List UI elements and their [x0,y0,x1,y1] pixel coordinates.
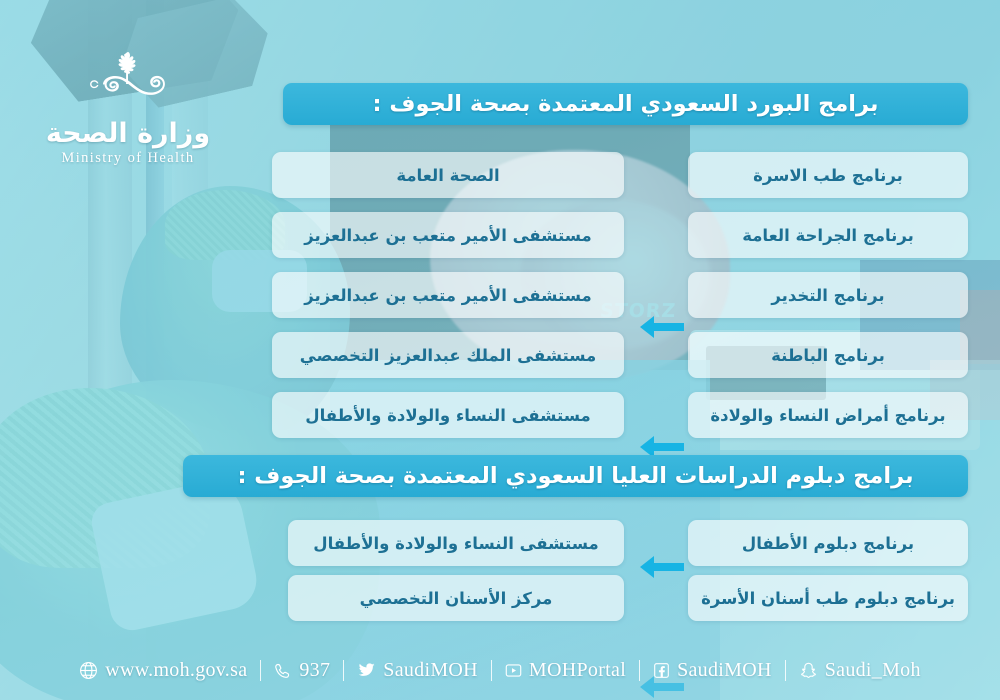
site-card[interactable]: مستشفى النساء والولادة والأطفال [288,520,624,566]
program-card[interactable]: برنامج أمراض النساء والولادة [688,392,968,438]
table-row: برنامج التخدير مستشفى الأمير متعب بن عبد… [0,272,1000,318]
site-card[interactable]: مستشفى الملك عبدالعزيز التخصصي [272,332,624,378]
table-row: برنامج دبلوم طب أسنان الأسرة مركز الأسنا… [0,575,1000,621]
program-card[interactable]: برنامج التخدير [688,272,968,318]
website-label: www.moh.gov.sa [105,659,247,682]
section-title-board-programs: برامج البورد السعودي المعتمدة بصحة الجوف… [283,83,968,125]
program-card[interactable]: برنامج دبلوم الأطفال [688,520,968,566]
twitter-icon [357,661,376,680]
footer-item-twitter[interactable]: SaudiMOH [344,659,491,682]
program-label: برنامج أمراض النساء والولادة [710,406,945,425]
footer-item-website[interactable]: www.moh.gov.sa [66,659,260,682]
site-card[interactable]: مستشفى الأمير متعب بن عبدالعزيز [272,212,624,258]
program-label: برنامج الباطنة [771,346,885,365]
globe-icon [79,661,98,680]
twitter-label: SaudiMOH [383,659,478,682]
footer-item-phone[interactable]: 937 [261,659,343,682]
program-card[interactable]: برنامج طب الاسرة [688,152,968,198]
table-row: برنامج الباطنة مستشفى الملك عبدالعزيز ال… [0,332,1000,378]
program-card[interactable]: برنامج دبلوم طب أسنان الأسرة [688,575,968,621]
footer-item-youtube[interactable]: MOHPortal [492,659,639,682]
site-card[interactable]: مستشفى الأمير متعب بن عبدالعزيز [272,272,624,318]
footer-contact-bar: www.moh.gov.sa 937 SaudiMOH [0,659,1000,682]
program-card[interactable]: برنامج الجراحة العامة [688,212,968,258]
youtube-icon [505,662,522,679]
phone-label: 937 [299,659,330,682]
youtube-label: MOHPortal [529,659,626,682]
site-label: مستشفى الملك عبدالعزيز التخصصي [300,346,596,365]
table-row: برنامج دبلوم الأطفال مستشفى النساء والول… [0,520,1000,566]
facebook-icon [653,662,670,679]
program-label: برنامج دبلوم طب أسنان الأسرة [701,589,955,608]
site-label: مستشفى الأمير متعب بن عبدالعزيز [304,226,591,245]
program-label: برنامج التخدير [771,286,884,305]
footer-item-facebook[interactable]: SaudiMOH [640,659,785,682]
site-label: مستشفى النساء والولادة والأطفال [305,406,590,425]
program-label: برنامج دبلوم الأطفال [742,534,914,553]
program-label: برنامج طب الاسرة [753,166,903,185]
section-title-text: برامج دبلوم الدراسات العليا السعودي المع… [237,463,913,489]
site-label: مستشفى النساء والولادة والأطفال [313,534,598,553]
site-card[interactable]: مركز الأسنان التخصصي [288,575,624,621]
site-card[interactable]: الصحة العامة [272,152,624,198]
moh-palm-swords-logo-icon [38,48,218,120]
table-row: برنامج الجراحة العامة مستشفى الأمير متعب… [0,212,1000,258]
table-row: برنامج طب الاسرة الصحة العامة [0,152,1000,198]
site-label: مركز الأسنان التخصصي [360,589,553,608]
logo-name-arabic: وزارة الصحة [38,118,218,149]
moh-logo: وزارة الصحة Ministry of Health [38,48,218,167]
facebook-label: SaudiMOH [677,659,772,682]
section-title-diploma-programs: برامج دبلوم الدراسات العليا السعودي المع… [183,455,968,497]
phone-icon [274,662,292,680]
site-label: الصحة العامة [396,166,499,185]
infographic-poster: STORZ وزارة الصحة Ministr [0,0,1000,700]
snapchat-icon [799,661,818,680]
site-card[interactable]: مستشفى النساء والولادة والأطفال [272,392,624,438]
program-card[interactable]: برنامج الباطنة [688,332,968,378]
footer-item-snapchat[interactable]: Saudi_Moh [786,659,934,682]
section-title-text: برامج البورد السعودي المعتمدة بصحة الجوف… [373,91,879,117]
snapchat-label: Saudi_Moh [825,659,921,682]
program-label: برنامج الجراحة العامة [742,226,914,245]
table-row: برنامج أمراض النساء والولادة مستشفى النس… [0,392,1000,438]
site-label: مستشفى الأمير متعب بن عبدالعزيز [304,286,591,305]
